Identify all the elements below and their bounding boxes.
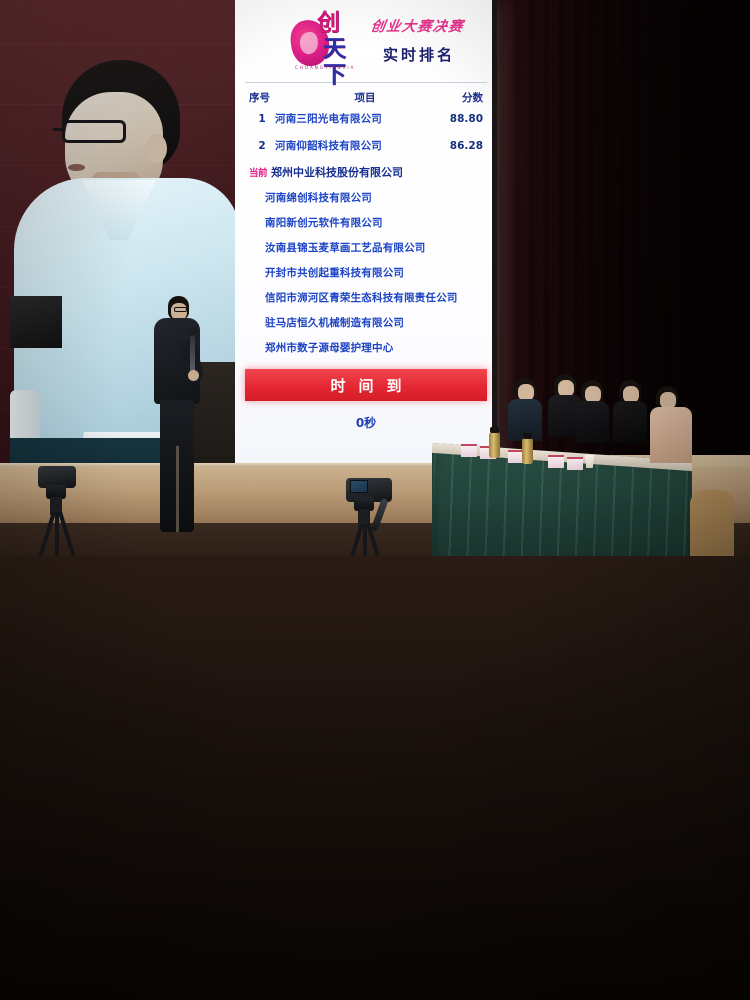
logo-char-1: 创 <box>317 9 340 36</box>
speaker-ear <box>146 134 167 163</box>
rank-score: 88.80 <box>431 113 483 125</box>
ranking-table-header: 序号 项目 分数 <box>243 90 489 105</box>
speaker-mouth <box>68 164 85 171</box>
name-plate <box>461 444 477 457</box>
time-up-banner: 时间到 <box>245 369 487 401</box>
countdown-timer: 0秒 <box>243 414 489 431</box>
rank-company-name: 河南三阳光电有限公司 <box>275 111 431 126</box>
ranking-slide: 创 天下 C H U A N G T I A N X I A 创业大赛决赛 实时… <box>235 0 497 470</box>
current-presenter-row: 当前 郑州中业科技股份有限公司 <box>243 159 489 185</box>
table-row: 2 河南仰韶科技有限公司 86.28 <box>243 132 489 159</box>
slide-header: 创 天下 C H U A N G T I A N X I A 创业大赛决赛 实时… <box>243 4 489 80</box>
judge-5 <box>650 386 692 460</box>
judge-body <box>575 401 609 443</box>
slide-title-script: 创业大赛决赛 <box>369 16 465 36</box>
logo-pinyin: C H U A N G T I A N X I A <box>295 65 354 70</box>
speaker-glasses-icon <box>62 120 126 143</box>
header-divider <box>245 82 487 83</box>
empty-chair <box>690 490 734 566</box>
feed-desk-box <box>10 296 62 348</box>
presenter-glasses-icon <box>174 307 187 312</box>
current-badge: 当前 <box>249 165 267 179</box>
rank-number: 2 <box>249 140 275 152</box>
list-item: 郑州市数子源母婴护理中心 <box>243 335 489 360</box>
rank-company-name: 河南仰韶科技有限公司 <box>275 138 431 153</box>
judge-1 <box>508 378 542 440</box>
presenter-hand <box>188 370 199 381</box>
audience-seating: 记分 <box>0 556 750 1000</box>
list-item: 南阳新创元软件有限公司 <box>243 210 489 235</box>
rank-number: 1 <box>249 113 275 125</box>
time-up-text: 时间到 <box>317 375 414 396</box>
logo-char-2: 天下 <box>323 36 365 88</box>
judge-body <box>613 401 647 443</box>
list-item: 开封市共创起重科技有限公司 <box>243 260 489 285</box>
table-thermos <box>489 432 500 458</box>
list-item: 河南绵创科技有限公司 <box>243 185 489 210</box>
column-header-no: 序号 <box>249 90 293 105</box>
name-plate <box>548 455 564 468</box>
current-company-name: 郑州中业科技股份有限公司 <box>271 164 403 180</box>
judge-body <box>650 407 692 463</box>
slide-title-main: 实时排名 <box>383 44 455 65</box>
table-thermos <box>522 438 533 464</box>
column-header-item: 项目 <box>293 90 431 105</box>
list-item: 汝南县锦玉麦草画工艺品有限公司 <box>243 235 489 260</box>
judge-4 <box>613 380 647 442</box>
judge-3 <box>575 380 609 442</box>
rank-score: 86.28 <box>431 140 483 152</box>
stage-presenter <box>150 296 206 542</box>
column-header-score: 分数 <box>431 90 483 105</box>
logo-calligraphy: 创 天下 <box>317 10 365 68</box>
projection-screen: 创 天下 C H U A N G T I A N X I A 创业大赛决赛 实时… <box>0 0 497 470</box>
photo-scene: 创 天下 C H U A N G T I A N X I A 创业大赛决赛 实时… <box>0 0 750 1000</box>
list-item: 驻马店恒久机械制造有限公司 <box>243 310 489 335</box>
camera-screen <box>350 480 368 493</box>
presenter-leg-gap <box>176 446 179 532</box>
table-row: 1 河南三阳光电有限公司 88.80 <box>243 105 489 132</box>
list-item: 信阳市浉河区青荣生态科技有限责任公司 <box>243 285 489 310</box>
name-plate <box>567 457 583 470</box>
contest-logo: 创 天下 C H U A N G T I A N X I A <box>291 10 363 72</box>
